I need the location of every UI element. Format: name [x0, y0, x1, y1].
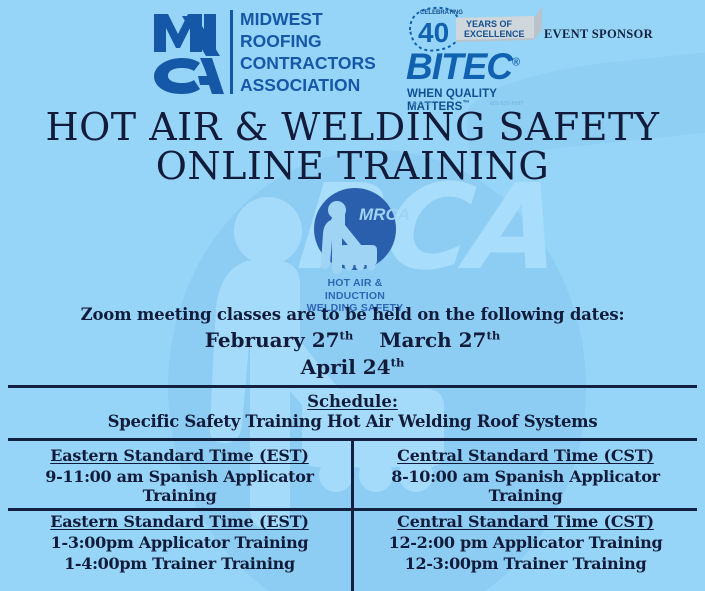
- header: MIDWEST ROOFING CONTRACTORS ASSOCIATION …: [0, 0, 705, 108]
- timezone-label: Central Standard Time (CST): [354, 446, 697, 465]
- svg-text:EXCELLENCE: EXCELLENCE: [464, 29, 525, 39]
- mrca-word-1: MIDWEST: [240, 8, 376, 30]
- dates-lead-text: Zoom meeting classes are to be held on t…: [0, 305, 705, 324]
- mrca-monogram-icon: [152, 8, 224, 96]
- bitec-registered-mark: ®: [512, 57, 519, 69]
- timezone-label: Eastern Standard Time (EST): [8, 512, 351, 531]
- date-2-ordinal: th: [486, 328, 500, 342]
- mrca-word-4: ASSOCIATION: [240, 74, 376, 96]
- mrca-logo: MIDWEST ROOFING CONTRACTORS ASSOCIATION: [152, 8, 376, 96]
- mrca-word-3: CONTRACTORS: [240, 52, 376, 74]
- date-1-text: February 27: [205, 328, 340, 352]
- page-title-line-1: HOT AIR & WELDING SAFETY: [46, 105, 660, 149]
- dates-row-1: February 27thMarch 27th: [0, 328, 705, 352]
- welding-safety-worker-icon: MRCA: [299, 188, 411, 274]
- date-1-ordinal: th: [340, 328, 354, 342]
- table-cell-row1-central: Central Standard Time (CST) 8-10:00 am S…: [354, 446, 697, 505]
- page-title-line-2: ONLINE TRAINING: [0, 147, 705, 186]
- session-line: 12-3:00pm Trainer Training: [354, 554, 697, 573]
- divider-top: [8, 385, 697, 388]
- svg-text:40: 40: [418, 17, 449, 48]
- svg-text:CELEBRATING: CELEBRATING: [420, 10, 463, 16]
- mrca-wordmark: MIDWEST ROOFING CONTRACTORS ASSOCIATION: [230, 10, 376, 94]
- session-line: 8-10:00 am Spanish Applicator Training: [354, 467, 697, 505]
- svg-text:YEARS OF: YEARS OF: [466, 19, 513, 29]
- bitec-wordmark: BITEC®: [406, 48, 519, 85]
- bitec-logo: 40 CELEBRATING YEARS OF EXCELLENCE BITEC…: [404, 4, 544, 106]
- session-line: 9-11:00 am Spanish Applicator Training: [8, 467, 351, 505]
- date-3-ordinal: th: [391, 355, 405, 369]
- event-sponsor-label: EVENT SPONSOR: [544, 27, 653, 42]
- dates-block: Zoom meeting classes are to be held on t…: [0, 305, 705, 379]
- date-3-text: April 24: [301, 355, 391, 379]
- table-cell-row2-central: Central Standard Time (CST) 12-2:00 pm A…: [354, 512, 697, 573]
- date-1: February 27th: [205, 328, 354, 352]
- timezone-label: Central Standard Time (CST): [354, 512, 697, 531]
- bitec-name-text: BITEC: [406, 46, 512, 87]
- mrca-word-2: ROOFING: [240, 30, 376, 52]
- session-line: 1-4:00pm Trainer Training: [8, 554, 351, 573]
- date-2-text: March 27: [379, 328, 486, 352]
- schedule-heading: Schedule:: [0, 392, 705, 411]
- flyer-canvas: RCA: [0, 0, 705, 591]
- session-line: 12-2:00 pm Applicator Training: [354, 533, 697, 552]
- timezone-label: Eastern Standard Time (EST): [8, 446, 351, 465]
- badge-mrca-text: MRCA: [359, 205, 410, 224]
- badge-caption-line-1: HOT AIR & INDUCTION: [299, 277, 411, 302]
- hot-air-induction-welding-safety-badge: MRCA HOT AIR & INDUCTION WELDING SAFETY: [299, 188, 411, 302]
- date-3: April 24th: [301, 355, 405, 379]
- table-cell-row2-eastern: Eastern Standard Time (EST) 1-3:00pm App…: [8, 512, 351, 573]
- table-cell-row1-eastern: Eastern Standard Time (EST) 9-11:00 am S…: [8, 446, 351, 505]
- schedule-subheading: Specific Safety Training Hot Air Welding…: [0, 412, 705, 431]
- session-line: 1-3:00pm Applicator Training: [8, 533, 351, 552]
- schedule-header: Schedule: Specific Safety Training Hot A…: [0, 392, 705, 431]
- page-title: HOT AIR & WELDING SAFETY ONLINE TRAINING: [0, 108, 705, 186]
- date-2: March 27th: [379, 328, 500, 352]
- dates-row-2: April 24th: [0, 355, 705, 379]
